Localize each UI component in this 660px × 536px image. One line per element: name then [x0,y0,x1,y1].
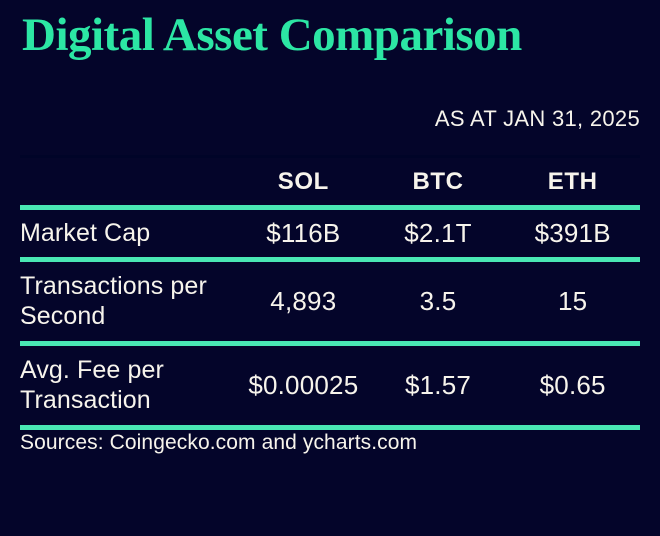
column-header-sol: SOL [236,168,371,196]
cell-avg-fee-btc: $1.57 [371,370,506,401]
page-title: Digital Asset Comparison [22,8,522,62]
cell-market-cap-sol: $116B [236,218,371,249]
row-label-transactions-per-second: Transactions per Second [20,272,236,331]
table-header-row: SOL BTC ETH [20,158,640,205]
row-label-market-cap: Market Cap [20,219,236,248]
cell-market-cap-btc: $2.1T [371,218,506,249]
cell-tps-btc: 3.5 [371,286,506,317]
cell-market-cap-eth: $391B [505,218,640,249]
table-row: Market Cap $116B $2.1T $391B [20,210,640,257]
divider-under-avg-fee [20,425,640,430]
table-row: Transactions per Second 4,893 3.5 15 [20,262,640,341]
table-row: Avg. Fee per Transaction $0.00025 $1.57 … [20,346,640,425]
column-header-eth: ETH [505,168,640,196]
cell-avg-fee-sol: $0.00025 [236,370,371,401]
cell-tps-sol: 4,893 [236,286,371,317]
as-at-date: AS AT JAN 31, 2025 [435,106,640,132]
cell-avg-fee-eth: $0.65 [505,370,640,401]
infographic-root: Digital Asset Comparison AS AT JAN 31, 2… [0,0,660,536]
row-label-avg-fee-per-transaction: Avg. Fee per Transaction [20,356,236,415]
cell-tps-eth: 15 [505,286,640,317]
column-header-btc: BTC [371,168,506,196]
sources-note: Sources: Coingecko.com and ycharts.com [20,431,417,455]
comparison-table: SOL BTC ETH Market Cap $116B $2.1T $391B… [20,155,640,430]
